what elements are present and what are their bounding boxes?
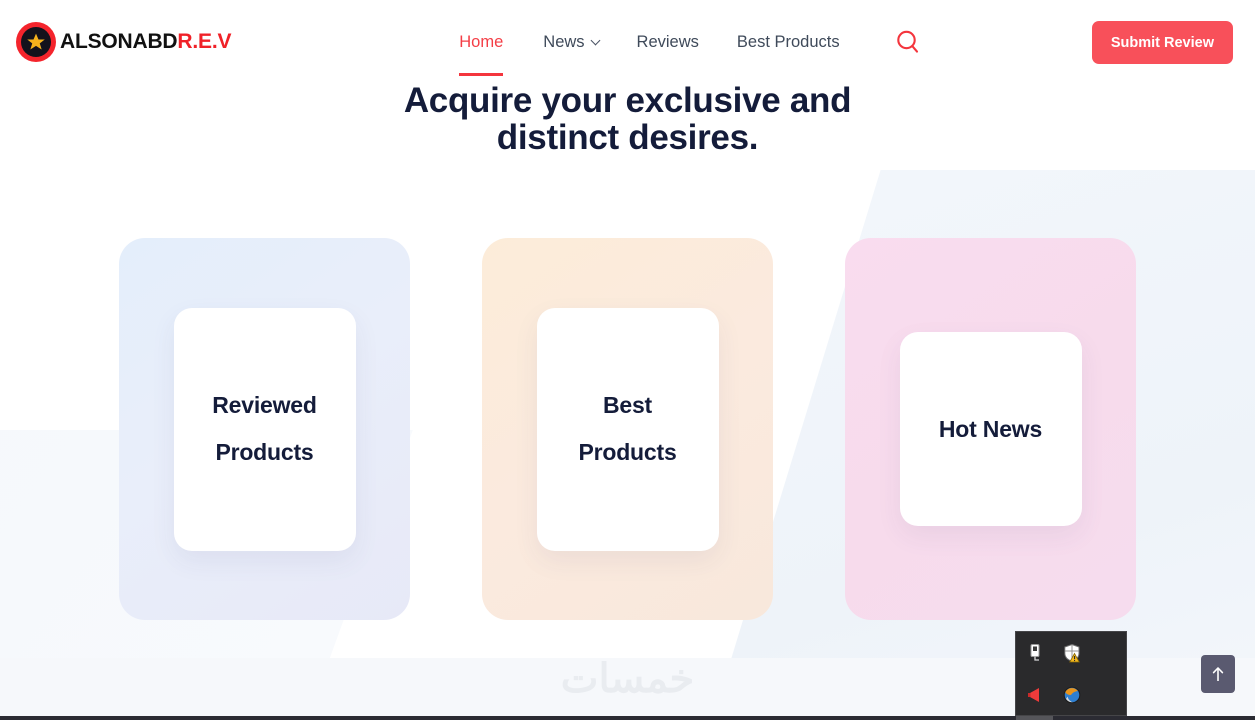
system-tray-overlay [1015,631,1127,716]
nav-item-reviews-label: Reviews [637,33,699,52]
scroll-to-top-button[interactable] [1201,655,1235,693]
card-best-products[interactable]: Best Products [482,238,773,620]
nav-item-home-label: Home [459,33,503,52]
shield-warning-icon[interactable] [1053,632,1090,674]
brand-logo-link[interactable]: ALSONABDR.E.V [16,22,231,62]
chevron-down-icon [590,35,600,45]
card-hot-news-title: Hot News [939,406,1042,453]
nav-item-reviews[interactable]: Reviews [637,25,699,60]
page-title: Acquire your exclusive and distinct desi… [348,82,908,156]
submit-review-button[interactable]: Submit Review [1092,21,1233,64]
nav-item-best-products-label: Best Products [737,33,840,52]
card-reviewed-products[interactable]: Reviewed Products [119,238,410,620]
search-icon[interactable] [894,28,922,56]
feather-pen-icon[interactable] [1016,716,1053,720]
card-reviewed-products-inner: Reviewed Products [174,308,356,551]
card-reviewed-products-title: Reviewed Products [212,382,317,476]
star-in-circle-icon [16,22,56,62]
brand-name-primary: ALSONABD [60,30,177,53]
card-best-products-inner: Best Products [537,308,719,551]
globe-browser-icon[interactable] [1053,674,1090,716]
card-best-products-title: Best Products [578,382,676,476]
page-root: ALSONABDR.E.V Home News Reviews Best Pro… [0,0,1255,720]
volume-speaker-icon[interactable] [1016,674,1053,716]
nav-item-best-products[interactable]: Best Products [737,25,840,60]
card-hot-news[interactable]: Hot News [845,238,1136,620]
card-hot-news-inner: Hot News [900,332,1082,526]
window-bottom-border [0,716,1255,720]
hero-section: Acquire your exclusive and distinct desi… [0,82,1255,156]
feature-cards-row: Reviewed Products Best Products Hot News [119,238,1136,620]
nav-item-news-label: News [543,33,584,52]
site-header: ALSONABDR.E.V Home News Reviews Best Pro… [0,0,1255,84]
brand-name: ALSONABDR.E.V [60,30,231,54]
usb-drive-icon[interactable] [1016,632,1053,674]
brand-name-accent: R.E.V [177,30,231,53]
nav-item-home[interactable]: Home [459,25,503,60]
nav-item-news[interactable]: News [543,25,598,60]
main-navigation: Home News Reviews Best Products [459,25,921,60]
